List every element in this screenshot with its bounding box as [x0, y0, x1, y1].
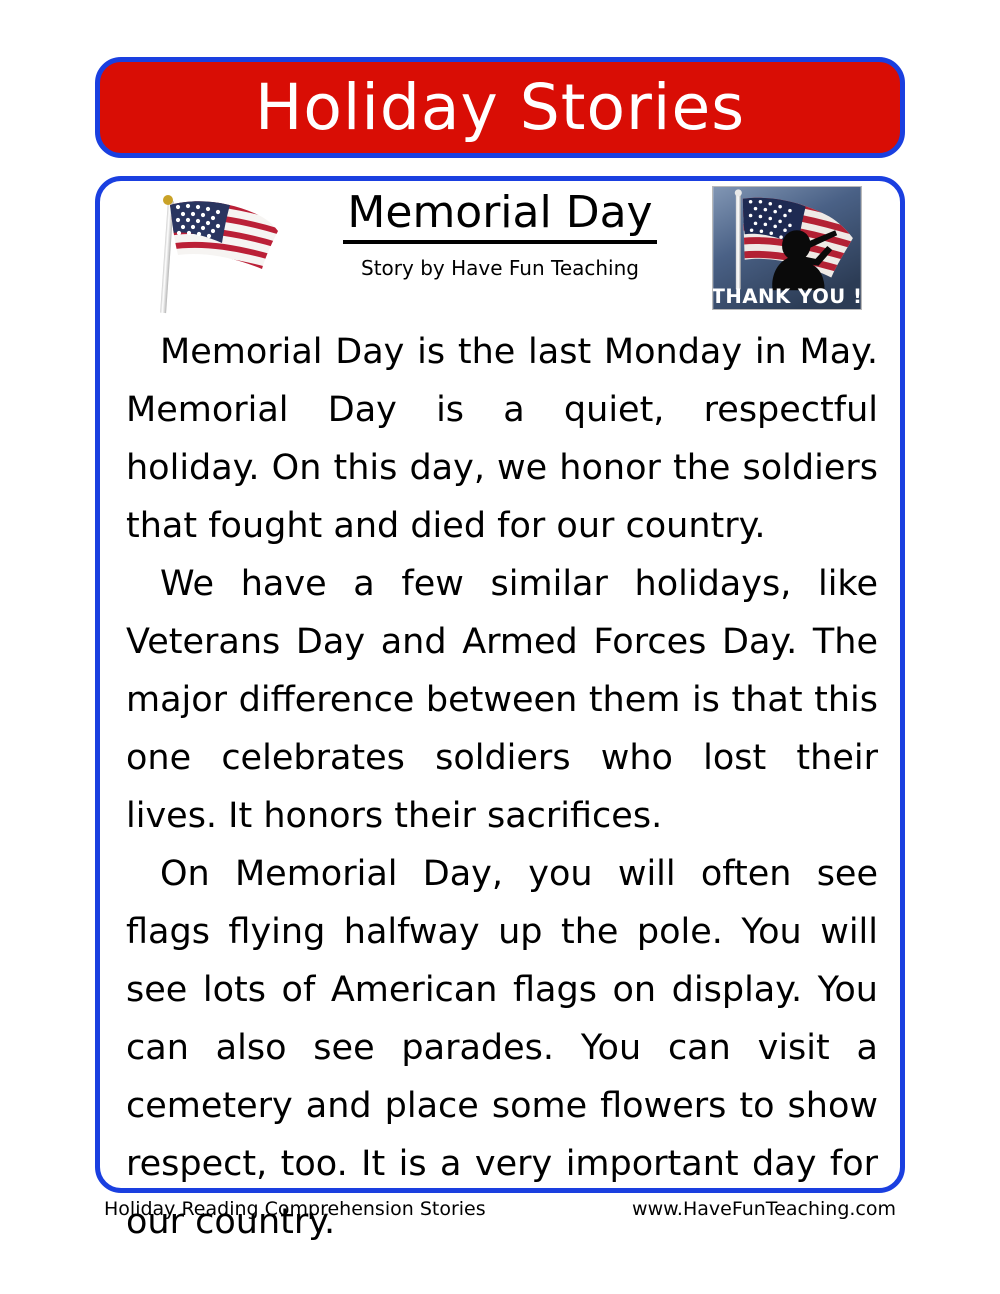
story-paragraph: Memorial Day is the last Monday in May. … [126, 323, 878, 555]
footer-left-label: Holiday Reading Comprehension Stories [104, 1200, 486, 1219]
story-paragraph: On Memorial Day, you will often see flag… [126, 845, 878, 1251]
story-title: Memorial Day [343, 189, 656, 244]
story-paragraph: We have a few similar holidays, like Vet… [126, 555, 878, 845]
story-header-row: Memorial Day Story by Have Fun Teaching [100, 181, 900, 321]
page-title: Holiday Stories [255, 76, 745, 139]
header-banner: Holiday Stories [95, 57, 905, 158]
thank-you-caption: THANK YOU ! [713, 285, 861, 308]
thank-you-image: THANK YOU ! [712, 186, 862, 310]
story-content-box: Memorial Day Story by Have Fun Teaching [95, 176, 905, 1193]
page-footer: Holiday Reading Comprehension Stories ww… [104, 1200, 896, 1219]
footer-website-label: www.HaveFunTeaching.com [632, 1200, 896, 1219]
story-text: Memorial Day is the last Monday in May. … [126, 323, 878, 1251]
